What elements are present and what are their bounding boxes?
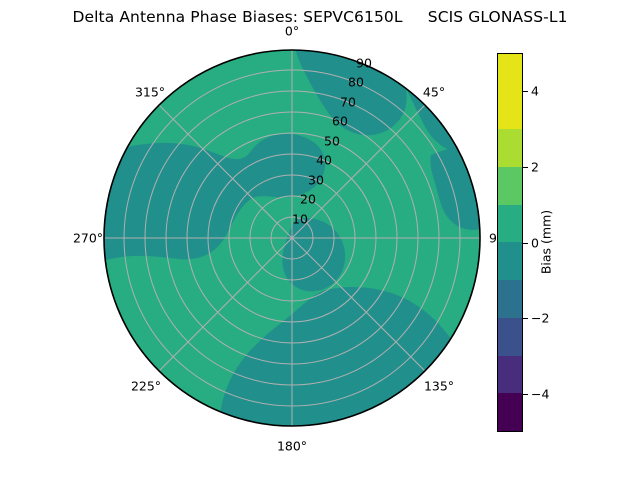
colorbar-band-9 [498,54,522,92]
colorbar-band-2 [498,318,522,356]
radial-tick-90: 90 [356,56,372,71]
angular-tick-135: 135° [424,379,454,394]
colorbar-tick-label-2: 2 [531,159,539,174]
radial-tick-80: 80 [348,75,364,90]
polar-grid-spokes [104,50,480,426]
angular-tick-0: 0° [285,24,299,39]
angular-tick-225: 225° [131,379,161,394]
radial-tick-60: 60 [332,114,348,129]
colorbar-band-5 [498,205,522,243]
colorbar-band-4 [498,242,522,280]
colorbar-tick-mark-0 [523,243,528,244]
colorbar-band-0 [498,393,522,431]
angular-tick-180: 180° [277,439,307,454]
colorbar-tick-mark-4 [523,91,528,92]
colorbar-band-1 [498,356,522,394]
colorbar-tick-mark-neg2 [523,318,528,319]
colorbar-tick-label-4: 4 [531,83,539,98]
angular-tick-270: 270° [73,231,103,246]
colorbar-band-7 [498,129,522,167]
colorbar-band-3 [498,280,522,318]
polar-axes[interactable]: 0° 45° 90 135° 180° 225° 270° 315° 10 20… [101,47,483,429]
colorbar[interactable]: 4 2 0 −2 −4 [497,53,523,432]
colorbar-band-8 [498,92,522,130]
angular-tick-315: 315° [135,85,165,100]
radial-tick-40: 40 [316,153,332,168]
angular-tick-45: 45° [423,85,445,100]
radial-tick-70: 70 [340,95,356,110]
radial-tick-20: 20 [300,192,316,207]
colorbar-tick-mark-neg4 [523,394,528,395]
radial-tick-10: 10 [292,212,308,227]
radial-tick-50: 50 [324,134,340,149]
colorbar-tick-label-neg2: −2 [531,311,549,326]
colorbar-axis-label: Bias (mm) [539,210,554,274]
colorbar-band-6 [498,167,522,205]
colorbar-gradient [497,53,523,432]
polar-plot-canvas[interactable] [101,47,483,429]
page-title: Delta Antenna Phase Biases: SEPVC6150L S… [0,8,640,26]
polar-skyplot-figure: Delta Antenna Phase Biases: SEPVC6150L S… [0,0,640,480]
radial-tick-30: 30 [308,173,324,188]
colorbar-tick-label-neg4: −4 [531,387,549,402]
colorbar-tick-mark-2 [523,167,528,168]
